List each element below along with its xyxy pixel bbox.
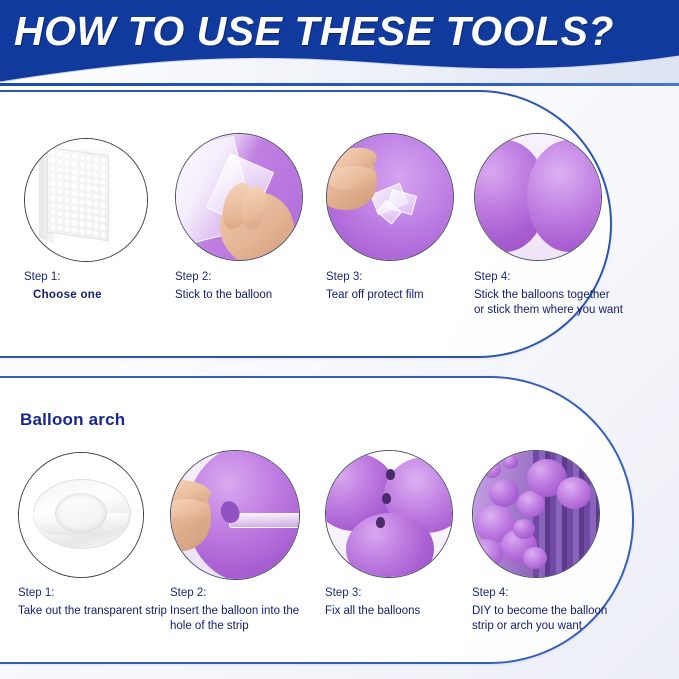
step-label: Step 2: [175, 270, 340, 285]
step-label: Step 4: [474, 270, 649, 285]
step-text: Fix all the balloons [325, 604, 495, 619]
page-header: HOW TO USE THESE TOOLS? [0, 0, 679, 86]
hand-sticking-dot-to-balloon-image [175, 133, 303, 261]
step-text: Stick the balloons together or stick the… [474, 288, 649, 318]
inserting-balloon-into-strip-image [170, 450, 300, 580]
page-title: HOW TO USE THESE TOOLS? [14, 8, 674, 55]
section-title-balloon-arch: Balloon arch [20, 410, 125, 430]
step-caption-1-1: Step 1: Choose one [24, 270, 174, 303]
header-bottom-rule [0, 83, 679, 86]
step-text: Stick to the balloon [175, 288, 340, 303]
glue-dot-sheet-image [24, 138, 148, 262]
infographic-page: HOW TO USE THESE TOOLS? [0, 0, 679, 679]
panel-balloon-arch: Balloon arch Step 1: Take out the transp… [0, 376, 634, 664]
step-text: Choose one [24, 288, 174, 303]
step-text: Tear off protect film [326, 288, 491, 303]
header-wave-decoration [0, 52, 679, 86]
step-label: Step 3: [325, 586, 495, 601]
step-label: Step 3: [326, 270, 491, 285]
transparent-tape-roll-image [18, 452, 144, 578]
step-text: Insert the balloon into the hole of the … [170, 604, 350, 634]
step-text: DIY to become the balloon strip or arch … [472, 604, 652, 634]
step-label: Step 4: [472, 586, 652, 601]
step-label: Step 1: [24, 270, 174, 285]
step-caption-2-2: Step 2: Insert the balloon into the hole… [170, 586, 350, 634]
two-balloons-stuck-together-image [474, 133, 602, 261]
tearing-protect-film-image [326, 133, 454, 261]
step-caption-1-2: Step 2: Stick to the balloon [175, 270, 340, 303]
step-caption-1-3: Step 3: Tear off protect film [326, 270, 491, 303]
finished-balloon-arch-image [472, 450, 600, 578]
step-caption-2-3: Step 3: Fix all the balloons [325, 586, 495, 619]
three-balloons-fixed-image [325, 450, 453, 578]
step-label: Step 2: [170, 586, 350, 601]
step-caption-2-4: Step 4: DIY to become the balloon strip … [472, 586, 652, 634]
step-caption-1-4: Step 4: Stick the balloons together or s… [474, 270, 649, 318]
panel-glue-dots: Step 1: Choose one Step 2: Stick to the … [0, 90, 612, 358]
